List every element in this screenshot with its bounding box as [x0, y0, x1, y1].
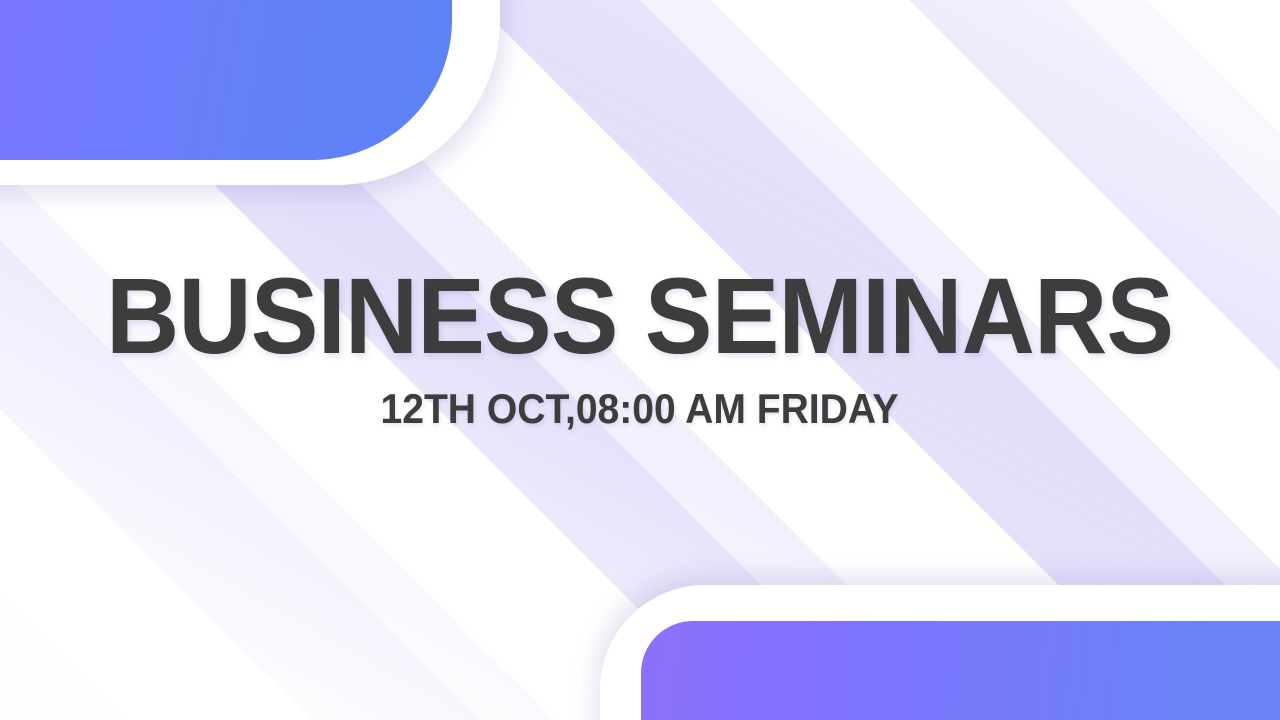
- poster-text-block: BUSINESS SEMINARS 12TH OCT,08:00 AM FRID…: [0, 0, 1280, 720]
- poster-canvas: BUSINESS SEMINARS 12TH OCT,08:00 AM FRID…: [0, 0, 1280, 720]
- event-datetime: 12TH OCT,08:00 AM FRIDAY: [381, 388, 899, 430]
- page-title: BUSINESS SEMINARS: [106, 262, 1173, 370]
